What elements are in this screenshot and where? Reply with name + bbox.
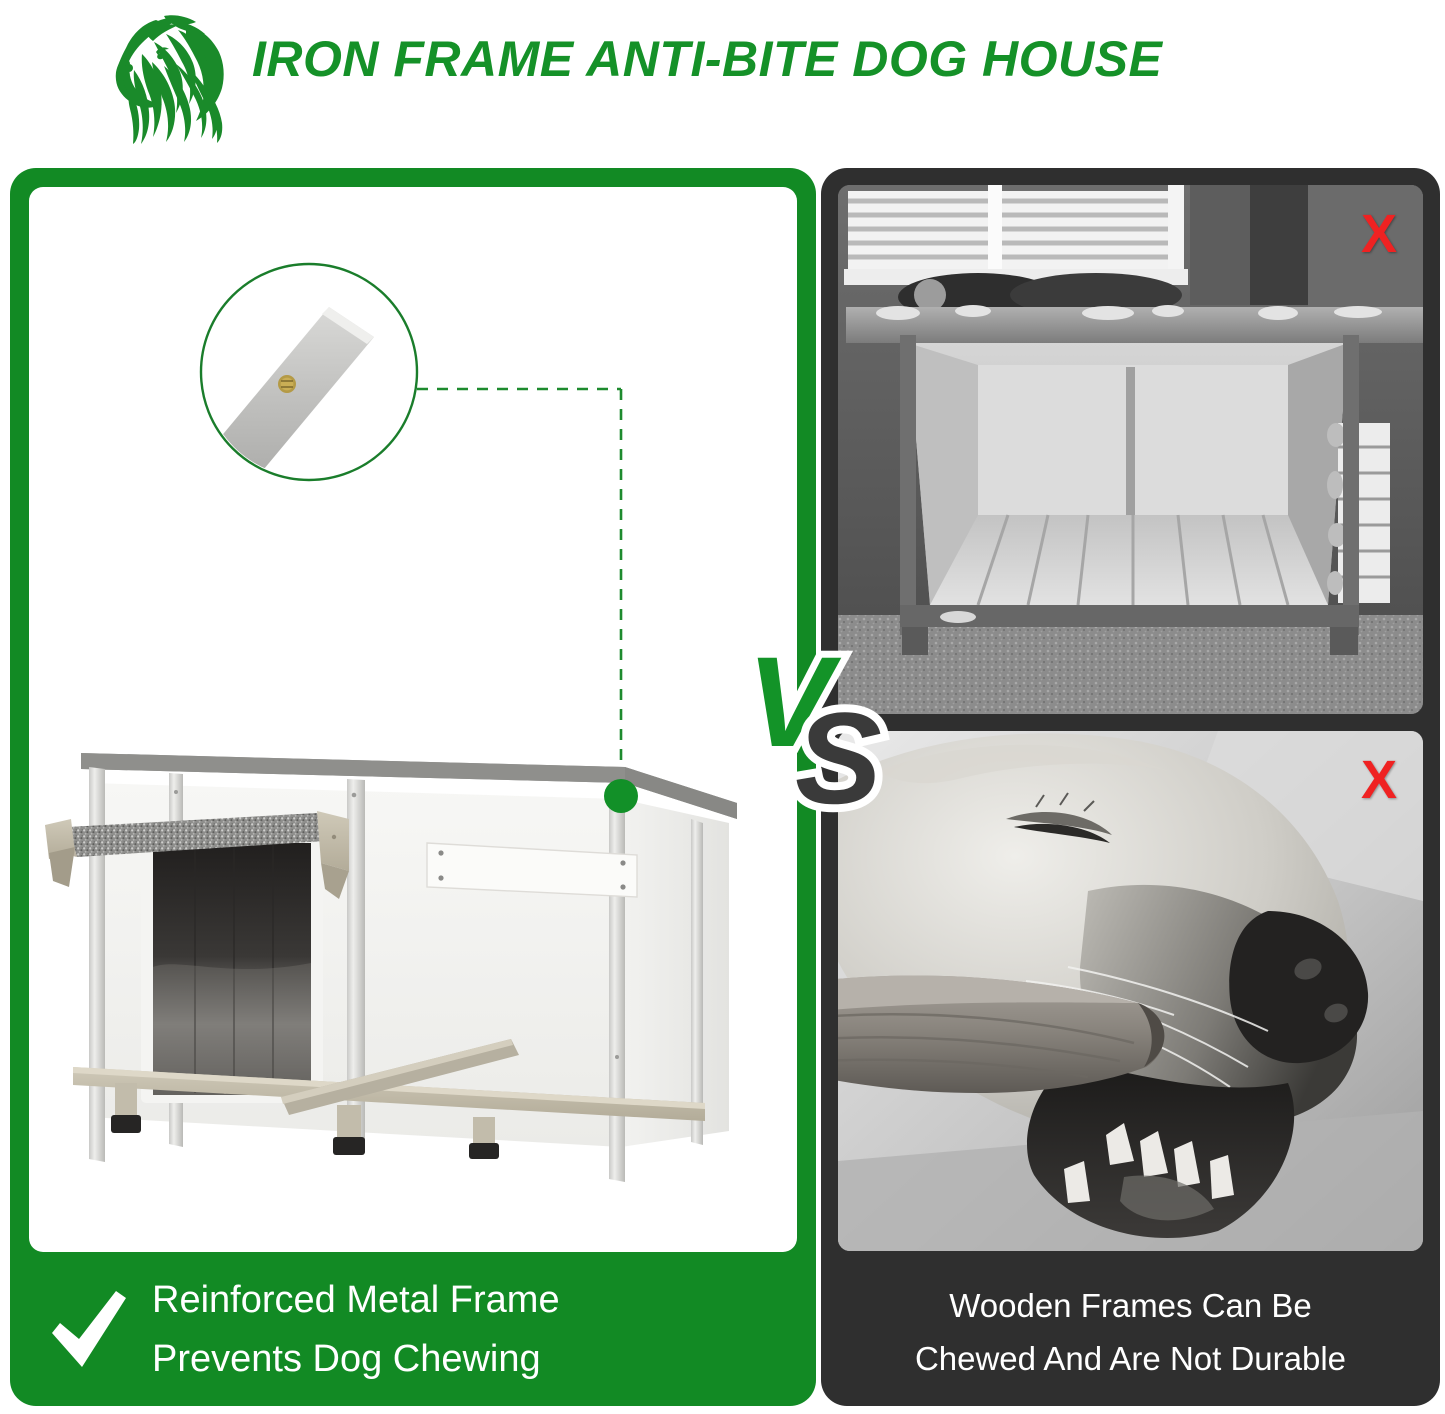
bad-option-card: X xyxy=(821,168,1440,1406)
header: IRON FRAME ANTI-BITE DOG HOUSE xyxy=(0,0,1445,155)
good-caption-line-2: Prevents Dog Chewing xyxy=(152,1330,560,1389)
bad-caption-line-1: Wooden Frames Can Be xyxy=(949,1279,1312,1332)
good-option-card: Reinforced Metal Frame Prevents Dog Chew… xyxy=(10,168,816,1406)
page-title: IRON FRAME ANTI-BITE DOG HOUSE xyxy=(252,34,1162,84)
dark-vinyl-door-flaps xyxy=(141,835,323,1103)
bad-option-caption: Wooden Frames Can Be Chewed And Are Not … xyxy=(821,1258,1440,1406)
checkmark-icon xyxy=(48,1287,130,1373)
dog-head-logo-icon xyxy=(112,8,240,144)
green-dot-marker xyxy=(604,779,638,813)
green-dashed-connector-line xyxy=(417,389,621,775)
bad-caption-line-2: Chewed And Are Not Durable xyxy=(915,1332,1346,1385)
good-option-caption: Reinforced Metal Frame Prevents Dog Chew… xyxy=(10,1254,816,1406)
good-caption-line-1: Reinforced Metal Frame xyxy=(152,1271,560,1330)
dog-biting-wooden-board-photo: X xyxy=(838,731,1423,1251)
infographic-root: IRON FRAME ANTI-BITE DOG HOUSE xyxy=(0,0,1445,1414)
product-illustration-panel xyxy=(29,187,797,1252)
magnifier-circle-icon xyxy=(172,264,417,525)
iron-frame-dog-house-render xyxy=(29,187,797,1252)
red-x-icon: X xyxy=(1361,207,1397,261)
red-x-icon: X xyxy=(1361,753,1397,807)
right-side-wall xyxy=(621,799,729,1147)
chewed-wooden-dog-house-interior-photo: X xyxy=(838,185,1423,714)
